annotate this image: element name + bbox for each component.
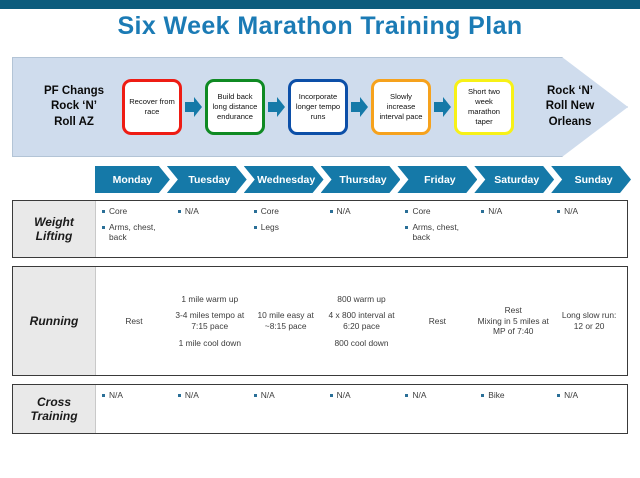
table-cell: CoreArms, chest, back: [96, 201, 172, 257]
cell-text: Long slow run: 12 or 20: [562, 310, 616, 332]
list-item-label: N/A: [261, 390, 320, 401]
banner-content: PF Changs Rock ‘N’ Roll AZ Recover from …: [12, 57, 628, 157]
table-cell: 800 warm up4 x 800 interval at 6:20 pace…: [324, 267, 400, 375]
day-header-sunday[interactable]: Sunday: [551, 166, 631, 193]
cell-text: 1 mile cool down: [179, 338, 241, 349]
list-item: N/A: [557, 206, 623, 217]
table-cell: N/A: [399, 385, 475, 433]
list-item: N/A: [102, 390, 168, 401]
list-item-label: N/A: [488, 206, 547, 217]
day-header-tuesday[interactable]: Tuesday: [167, 166, 247, 193]
table-cell: Long slow run: 12 or 20: [551, 267, 627, 375]
process-step-5[interactable]: Short two week marathon taper: [454, 79, 514, 135]
process-step-3[interactable]: Incorporate longer tempo runs: [288, 79, 348, 135]
table-cell: Rest: [399, 267, 475, 375]
cell-text: Rest Mixing in 5 miles at MP of 7:40: [477, 305, 549, 337]
table-cell: Rest: [96, 267, 172, 375]
process-step-4[interactable]: Slowly increase interval pace: [371, 79, 431, 135]
bullet-square-icon: [254, 210, 257, 213]
table-cell: CoreArms, chest, back: [399, 201, 475, 257]
row-label-weight-lifting: Weight Lifting: [13, 201, 96, 257]
banner-start-label: PF Changs Rock ‘N’ Roll AZ: [26, 84, 122, 131]
row-cells-running: Rest1 mile warm up3-4 miles tempo at 7:1…: [96, 267, 627, 375]
list-item: N/A: [330, 206, 396, 217]
flow-arrow-icon-1: [185, 97, 202, 117]
table-cell: N/A: [324, 385, 400, 433]
table-cell: Bike: [475, 385, 551, 433]
cell-text: 4 x 800 interval at 6:20 pace: [326, 310, 398, 332]
bullet-square-icon: [405, 394, 408, 397]
list-item-label: N/A: [185, 206, 244, 217]
bullet-square-icon: [102, 210, 105, 213]
list-item-label: N/A: [564, 390, 623, 401]
bullet-square-icon: [254, 394, 257, 397]
day-header-row: Monday Tuesday Wednesday Thursday Friday…: [95, 166, 628, 193]
list-item-label: Core: [109, 206, 168, 217]
bullet-square-icon: [330, 210, 333, 213]
row-cells-weight-lifting: CoreArms, chest, backN/ACoreLegsN/ACoreA…: [96, 201, 627, 257]
list-item: Legs: [254, 222, 320, 233]
table-cell: 1 mile warm up3-4 miles tempo at 7:15 pa…: [172, 267, 248, 375]
list-item-label: N/A: [337, 206, 396, 217]
slide-canvas: Six Week Marathon Training Plan PF Chang…: [0, 0, 640, 478]
list-item-label: Bike: [488, 390, 547, 401]
bullet-square-icon: [405, 226, 408, 229]
cell-text: 3-4 miles tempo at 7:15 pace: [174, 310, 246, 332]
bullet-square-icon: [102, 394, 105, 397]
list-item-label: N/A: [109, 390, 168, 401]
list-item: Core: [405, 206, 471, 217]
bullet-square-icon: [178, 210, 181, 213]
list-item: N/A: [557, 390, 623, 401]
cell-text: 800 warm up: [337, 294, 385, 305]
list-item: Arms, chest, back: [405, 222, 471, 243]
bullet-square-icon: [557, 394, 560, 397]
day-header-friday[interactable]: Friday: [397, 166, 477, 193]
list-item-label: Core: [412, 206, 471, 217]
bullet-square-icon: [481, 210, 484, 213]
bullet-square-icon: [254, 226, 257, 229]
table-cell: N/A: [248, 385, 324, 433]
table-cell: N/A: [172, 385, 248, 433]
row-cells-cross-training: N/AN/AN/AN/AN/ABikeN/A: [96, 385, 627, 433]
flow-arrow-icon-4: [434, 97, 451, 117]
list-item: Core: [254, 206, 320, 217]
cell-text: 1 mile warm up: [181, 294, 238, 305]
list-item: Core: [102, 206, 168, 217]
bullet-square-icon: [481, 394, 484, 397]
row-label-cross-training: Cross Training: [13, 385, 96, 433]
list-item: N/A: [481, 206, 547, 217]
day-header-wednesday[interactable]: Wednesday: [244, 166, 324, 193]
table-cell: N/A: [551, 201, 627, 257]
day-header-saturday[interactable]: Saturday: [474, 166, 554, 193]
table-cell: Rest Mixing in 5 miles at MP of 7:40: [475, 267, 551, 375]
banner-end-label: Rock ‘N’ Roll New Orleans: [524, 84, 616, 131]
table-row-running: Running Rest1 mile warm up3-4 miles temp…: [12, 266, 628, 376]
list-item: Bike: [481, 390, 547, 401]
list-item-label: Legs: [261, 222, 320, 233]
cell-text: 10 mile easy at ~8:15 pace: [250, 310, 322, 332]
list-item-label: N/A: [185, 390, 244, 401]
day-header-monday[interactable]: Monday: [95, 166, 170, 193]
flow-arrow-icon-2: [268, 97, 285, 117]
flow-arrow-icon-3: [351, 97, 368, 117]
day-header-thursday[interactable]: Thursday: [321, 166, 401, 193]
list-item-label: N/A: [337, 390, 396, 401]
top-accent-bar: [0, 0, 640, 9]
table-row-weight-lifting: Weight Lifting CoreArms, chest, backN/AC…: [12, 200, 628, 258]
table-cell: CoreLegs: [248, 201, 324, 257]
list-item-label: Core: [261, 206, 320, 217]
page-title: Six Week Marathon Training Plan: [0, 12, 640, 41]
cell-text: Rest: [429, 316, 446, 327]
cell-text: 800 cool down: [335, 338, 389, 349]
cell-text: Rest: [125, 316, 142, 327]
process-flow-banner: PF Changs Rock ‘N’ Roll AZ Recover from …: [12, 57, 628, 157]
table-cell: N/A: [551, 385, 627, 433]
table-cell: 10 mile easy at ~8:15 pace: [248, 267, 324, 375]
bullet-square-icon: [405, 210, 408, 213]
table-cell: N/A: [475, 201, 551, 257]
bullet-square-icon: [330, 394, 333, 397]
process-step-2[interactable]: Build back long distance endurance: [205, 79, 265, 135]
list-item-label: N/A: [412, 390, 471, 401]
row-label-running: Running: [13, 267, 96, 375]
list-item: N/A: [178, 206, 244, 217]
process-step-1[interactable]: Recover from race: [122, 79, 182, 135]
list-item-label: Arms, chest, back: [412, 222, 471, 243]
list-item-label: Arms, chest, back: [109, 222, 168, 243]
bullet-square-icon: [178, 394, 181, 397]
bullet-square-icon: [102, 226, 105, 229]
bullet-square-icon: [557, 210, 560, 213]
list-item: N/A: [178, 390, 244, 401]
table-row-cross-training: Cross Training N/AN/AN/AN/AN/ABikeN/A: [12, 384, 628, 434]
list-item: N/A: [405, 390, 471, 401]
table-cell: N/A: [324, 201, 400, 257]
table-cell: N/A: [96, 385, 172, 433]
list-item-label: N/A: [564, 206, 623, 217]
list-item: Arms, chest, back: [102, 222, 168, 243]
table-cell: N/A: [172, 201, 248, 257]
list-item: N/A: [330, 390, 396, 401]
list-item: N/A: [254, 390, 320, 401]
